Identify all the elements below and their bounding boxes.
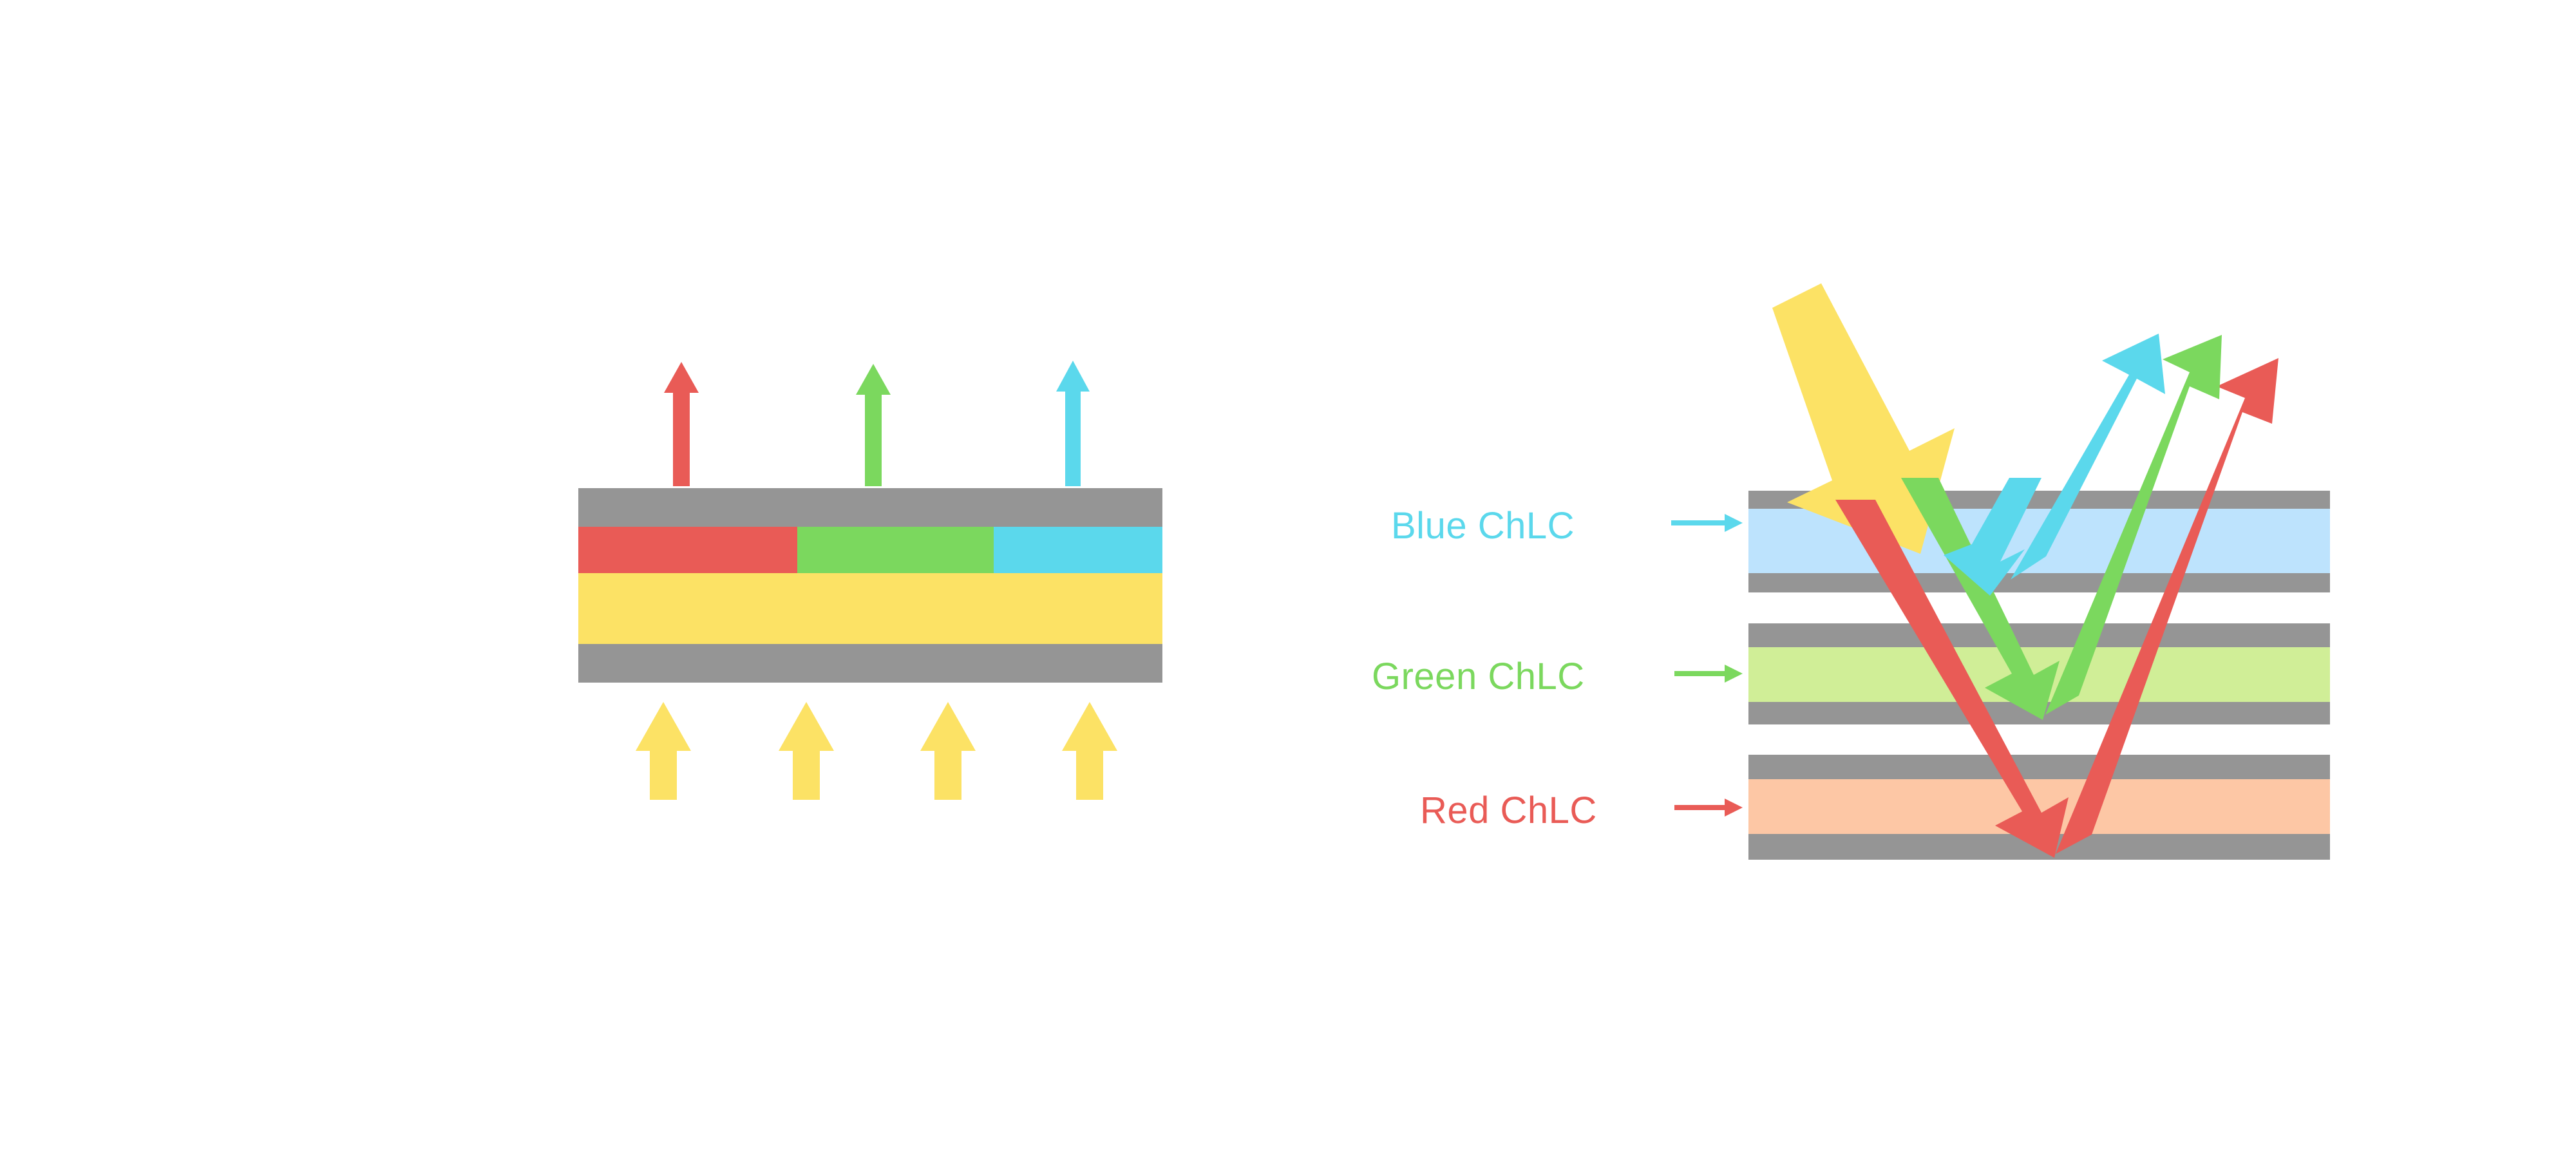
diagram-svg xyxy=(0,0,2576,1154)
blue-subpixel xyxy=(994,527,1162,573)
blue-label-pointer-icon xyxy=(1671,514,1743,532)
diagram-canvas: Blue ChLC Green ChLC Red ChLC xyxy=(0,0,2576,1154)
left-emitted-arrows xyxy=(664,361,1090,486)
backlight-arrow-4 xyxy=(1062,702,1117,800)
green-subpixel xyxy=(797,527,994,573)
left-backlight-arrows xyxy=(636,702,1117,800)
left-stack xyxy=(578,488,1162,683)
red-label-pointer-icon xyxy=(1674,799,1743,817)
label-pointers xyxy=(1671,514,1743,817)
left-bottom-electrode xyxy=(578,644,1162,683)
backlight-arrow-2 xyxy=(779,702,834,800)
green-emitted-arrow xyxy=(856,364,891,486)
red-subpixel xyxy=(578,527,797,573)
backlight-layer xyxy=(578,573,1162,644)
green-chlc-label: Green ChLC xyxy=(1372,658,1585,695)
red-chlc-label: Red ChLC xyxy=(1420,792,1597,829)
green-label-pointer-icon xyxy=(1674,665,1743,683)
backlight-arrow-1 xyxy=(636,702,691,800)
blue-chlc-label: Blue ChLC xyxy=(1391,507,1575,545)
blue-group-bottom-gray xyxy=(1748,573,2330,592)
left-top-electrode xyxy=(578,488,1162,527)
red-emitted-arrow xyxy=(664,362,699,486)
green-group-top-gray xyxy=(1748,623,2330,647)
blue-emitted-arrow xyxy=(1056,361,1090,486)
backlight-arrow-3 xyxy=(920,702,976,800)
red-group-top-gray xyxy=(1748,755,2330,779)
